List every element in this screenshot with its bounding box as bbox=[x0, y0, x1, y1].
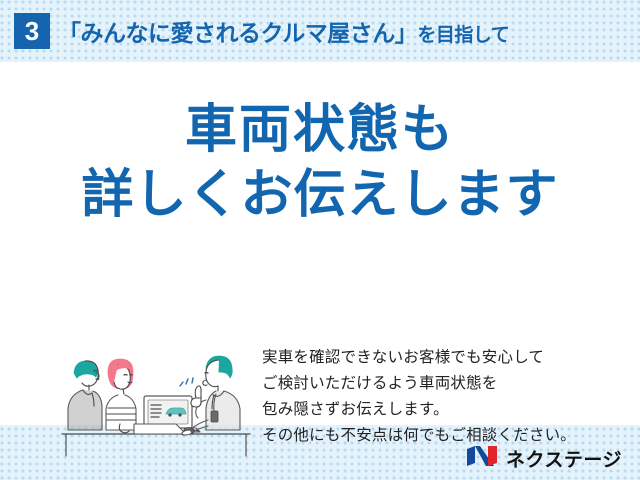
header-band: 3 「みんなに愛されるクルマ屋さん」を目指して bbox=[0, 0, 640, 62]
content-panel: 車両状態も 詳しくお伝えします bbox=[0, 62, 640, 425]
staff-id-badge bbox=[211, 411, 218, 422]
woman-eye-right bbox=[130, 375, 132, 376]
body-copy-line-1: 実車を確認できないお客様でも安心して bbox=[262, 345, 612, 371]
man-jacket bbox=[68, 390, 102, 430]
nextage-n-mark-icon bbox=[466, 445, 500, 472]
headline-line-2: 詳しくお伝えします bbox=[0, 165, 640, 226]
header-title-quoted: 「みんなに愛されるクルマ屋さん」 bbox=[58, 20, 417, 46]
man-eye bbox=[94, 371, 97, 372]
desk-document bbox=[134, 424, 186, 434]
woman-neck bbox=[123, 389, 124, 394]
laptop-car-thumbnail bbox=[166, 408, 186, 414]
logo-blue-stroke bbox=[467, 446, 475, 466]
speech-mark-2 bbox=[186, 379, 188, 384]
logo-red-stroke bbox=[488, 446, 497, 466]
laptop-car-wheel-left bbox=[168, 413, 171, 416]
laptop-car-wheel-right bbox=[178, 413, 181, 416]
body-copy-line-2: ご検討いただけるよう車両状態を bbox=[262, 371, 612, 397]
staff-hand bbox=[191, 398, 201, 407]
body-copy: 実車を確認できないお客様でも安心して ご検討いただけるよう車両状態を 包み隠さず… bbox=[262, 345, 612, 449]
staff-eye bbox=[205, 373, 208, 374]
body-copy-line-3: 包み隠さずお伝えします。 bbox=[262, 397, 612, 423]
speech-mark-1 bbox=[180, 382, 183, 386]
header-title: 「みんなに愛されるクルマ屋さん」を目指して bbox=[58, 14, 509, 48]
woman-top bbox=[106, 395, 136, 430]
speech-mark-3 bbox=[192, 378, 193, 383]
brand-name: ネクステージ bbox=[506, 445, 622, 472]
woman-eye-left bbox=[124, 375, 127, 376]
consultation-illustration bbox=[56, 338, 256, 458]
promotional-banner: 3 「みんなに愛されるクルマ屋さん」を目指して 車両状態も 詳しくお伝えします bbox=[0, 0, 640, 480]
headline: 車両状態も 詳しくお伝えします bbox=[0, 100, 640, 227]
brand-logo: ネクステージ bbox=[466, 445, 622, 472]
staff-jacket bbox=[206, 391, 240, 430]
man-mouth bbox=[96, 379, 99, 380]
header-title-suffix: を目指して bbox=[417, 25, 509, 46]
headline-line-1: 車両状態も bbox=[0, 100, 640, 161]
step-number-badge: 3 bbox=[14, 13, 50, 49]
staff-index-finger bbox=[195, 386, 201, 398]
